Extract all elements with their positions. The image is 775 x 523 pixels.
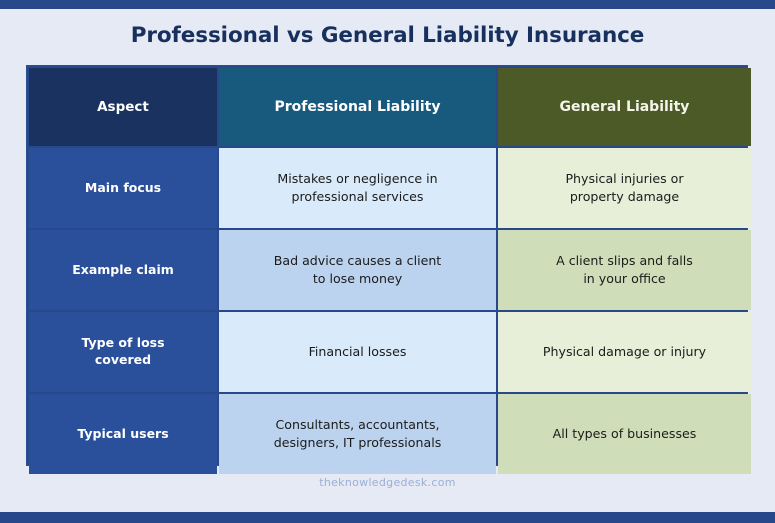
row-label-typical-users: Typical users: [29, 394, 217, 474]
source-attribution: theknowledgedesk.com: [0, 476, 775, 489]
row-label-example-claim: Example claim: [29, 230, 217, 310]
cell-general-type-of-loss-covered: Physical damage or injury: [498, 312, 751, 392]
cell-professional-main-focus: Mistakes or negligence inprofessional se…: [219, 148, 496, 228]
table-header-row: Aspect Professional Liability General Li…: [29, 68, 751, 146]
column-header-aspect: Aspect: [29, 68, 217, 146]
cell-general-example-claim: A client slips and fallsin your office: [498, 230, 751, 310]
cell-professional-example-claim: Bad advice causes a clientto lose money: [219, 230, 496, 310]
row-label-main-focus: Main focus: [29, 148, 217, 228]
cell-professional-type-of-loss-covered: Financial losses: [219, 312, 496, 392]
table-row: Main focus Mistakes or negligence inprof…: [29, 148, 751, 228]
column-header-professional-liability: Professional Liability: [219, 68, 496, 146]
table-row: Typical users Consultants, accountants,d…: [29, 394, 751, 474]
comparison-table-container: Aspect Professional Liability General Li…: [26, 65, 748, 466]
cell-general-main-focus: Physical injuries orproperty damage: [498, 148, 751, 228]
bottom-accent-bar: [0, 512, 775, 523]
column-header-general-liability: General Liability: [498, 68, 751, 146]
comparison-table: Aspect Professional Liability General Li…: [27, 66, 753, 476]
top-accent-bar: [0, 0, 775, 9]
cell-general-typical-users: All types of businesses: [498, 394, 751, 474]
page-title: Professional vs General Liability Insura…: [0, 23, 775, 48]
table-row: Type of losscovered Financial losses Phy…: [29, 312, 751, 392]
table-header: Aspect Professional Liability General Li…: [29, 68, 751, 146]
table-body: Main focus Mistakes or negligence inprof…: [29, 148, 751, 474]
table-row: Example claim Bad advice causes a client…: [29, 230, 751, 310]
cell-professional-typical-users: Consultants, accountants,designers, IT p…: [219, 394, 496, 474]
row-label-type-of-loss-covered: Type of losscovered: [29, 312, 217, 392]
